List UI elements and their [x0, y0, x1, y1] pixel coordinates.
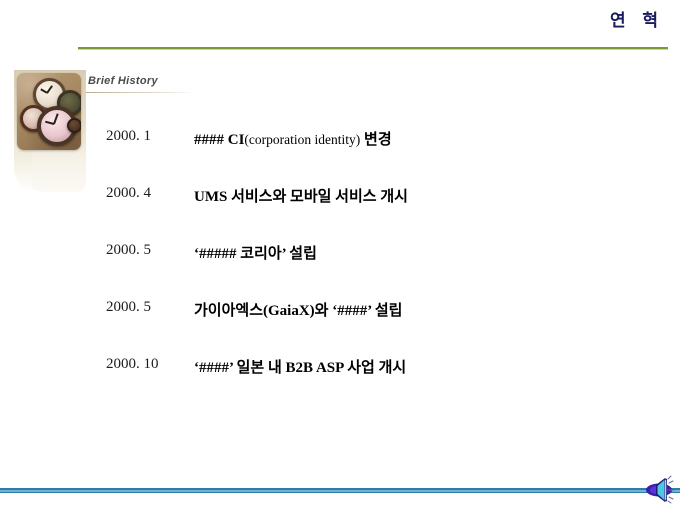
history-text-paren: (corporation identity)	[244, 132, 360, 147]
history-row: 2000. 4 UMS 서비스와 모바일 서비스 개시	[0, 185, 680, 211]
history-text: ‘####’ 일본 내 B2B ASP 사업 개시	[194, 356, 406, 377]
history-date: 2000. 5	[106, 242, 186, 259]
history-text: UMS 서비스와 모바일 서비스 개시	[194, 185, 408, 206]
page-title: 연 혁	[610, 6, 664, 31]
history-text-main: ‘##### 코리아’ 설립	[194, 246, 317, 262]
history-row: 2000. 5 ‘##### 코리아’ 설립	[0, 242, 680, 268]
history-date: 2000. 5	[106, 299, 186, 316]
history-row: 2000. 10 ‘####’ 일본 내 B2B ASP 사업 개시	[0, 356, 680, 382]
history-text-main: ‘####’ 일본 내 B2B ASP 사업 개시	[194, 360, 406, 376]
slide-canvas: 연 혁 Brief History 2000. 1 #### CI(corpor…	[0, 0, 680, 510]
history-text-main: #### CI	[194, 132, 244, 148]
history-text-main: UMS 서비스와 모바일 서비스 개시	[194, 189, 408, 205]
history-date: 2000. 4	[106, 185, 186, 202]
clock-hand	[40, 89, 47, 94]
speaker-icon[interactable]	[645, 474, 677, 504]
history-text-main: 가이아엑스(GaiaX)와 ‘####’ 설립	[194, 303, 402, 319]
title-divider-shadow	[78, 49, 668, 50]
footer-divider-lowlight	[0, 492, 680, 493]
history-row: 2000. 1 #### CI(corporation identity) 변경	[0, 128, 680, 154]
history-date: 2000. 1	[106, 128, 186, 145]
history-text-tail: 변경	[360, 132, 391, 148]
history-date: 2000. 10	[106, 356, 186, 373]
history-text: 가이아엑스(GaiaX)와 ‘####’ 설립	[194, 299, 402, 320]
brief-history-label: Brief History	[88, 75, 158, 87]
history-row: 2000. 5 가이아엑스(GaiaX)와 ‘####’ 설립	[0, 299, 680, 325]
history-text: ‘##### 코리아’ 설립	[194, 242, 317, 263]
banner-underline	[86, 92, 196, 93]
history-text: #### CI(corporation identity) 변경	[194, 128, 392, 149]
